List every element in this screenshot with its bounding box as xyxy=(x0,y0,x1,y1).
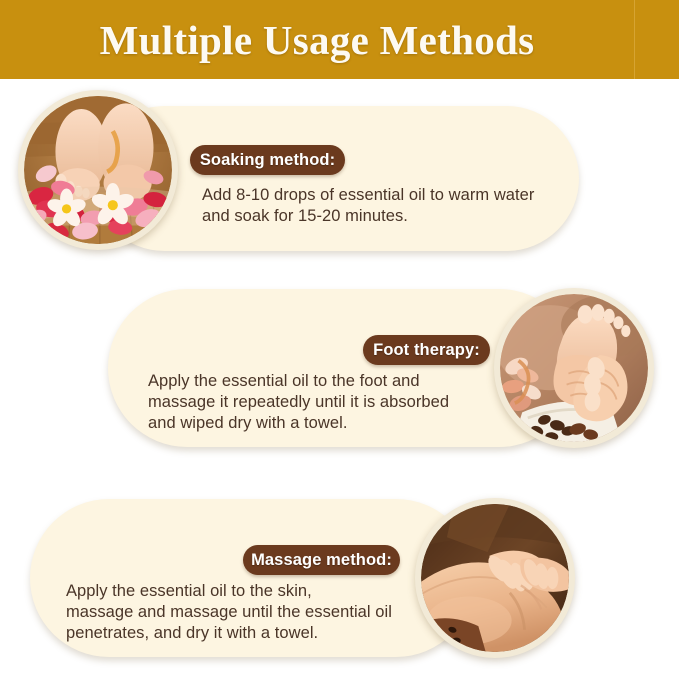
method-description-foot-therapy: Apply the essential oil to the foot and … xyxy=(148,371,508,434)
method-label-soaking: Soaking method: xyxy=(190,145,345,175)
method-description-soaking: Add 8-10 drops of essential oil to warm … xyxy=(202,185,582,227)
back-massage-photo xyxy=(415,498,575,658)
method-description-massage: Apply the essential oil to the skin, mas… xyxy=(66,581,426,644)
foot-reflexology-massage-photo xyxy=(494,288,654,448)
feet-soaking-in-petal-bath-photo xyxy=(18,90,178,250)
method-label-foot-therapy: Foot therapy: xyxy=(363,335,490,365)
banner-divider xyxy=(634,0,635,79)
header-banner: Multiple Usage Methods xyxy=(0,0,679,79)
usage-methods-infographic: Multiple Usage Methods xyxy=(0,0,679,676)
method-label-massage: Massage method: xyxy=(243,545,400,575)
page-title: Multiple Usage Methods xyxy=(0,0,634,79)
